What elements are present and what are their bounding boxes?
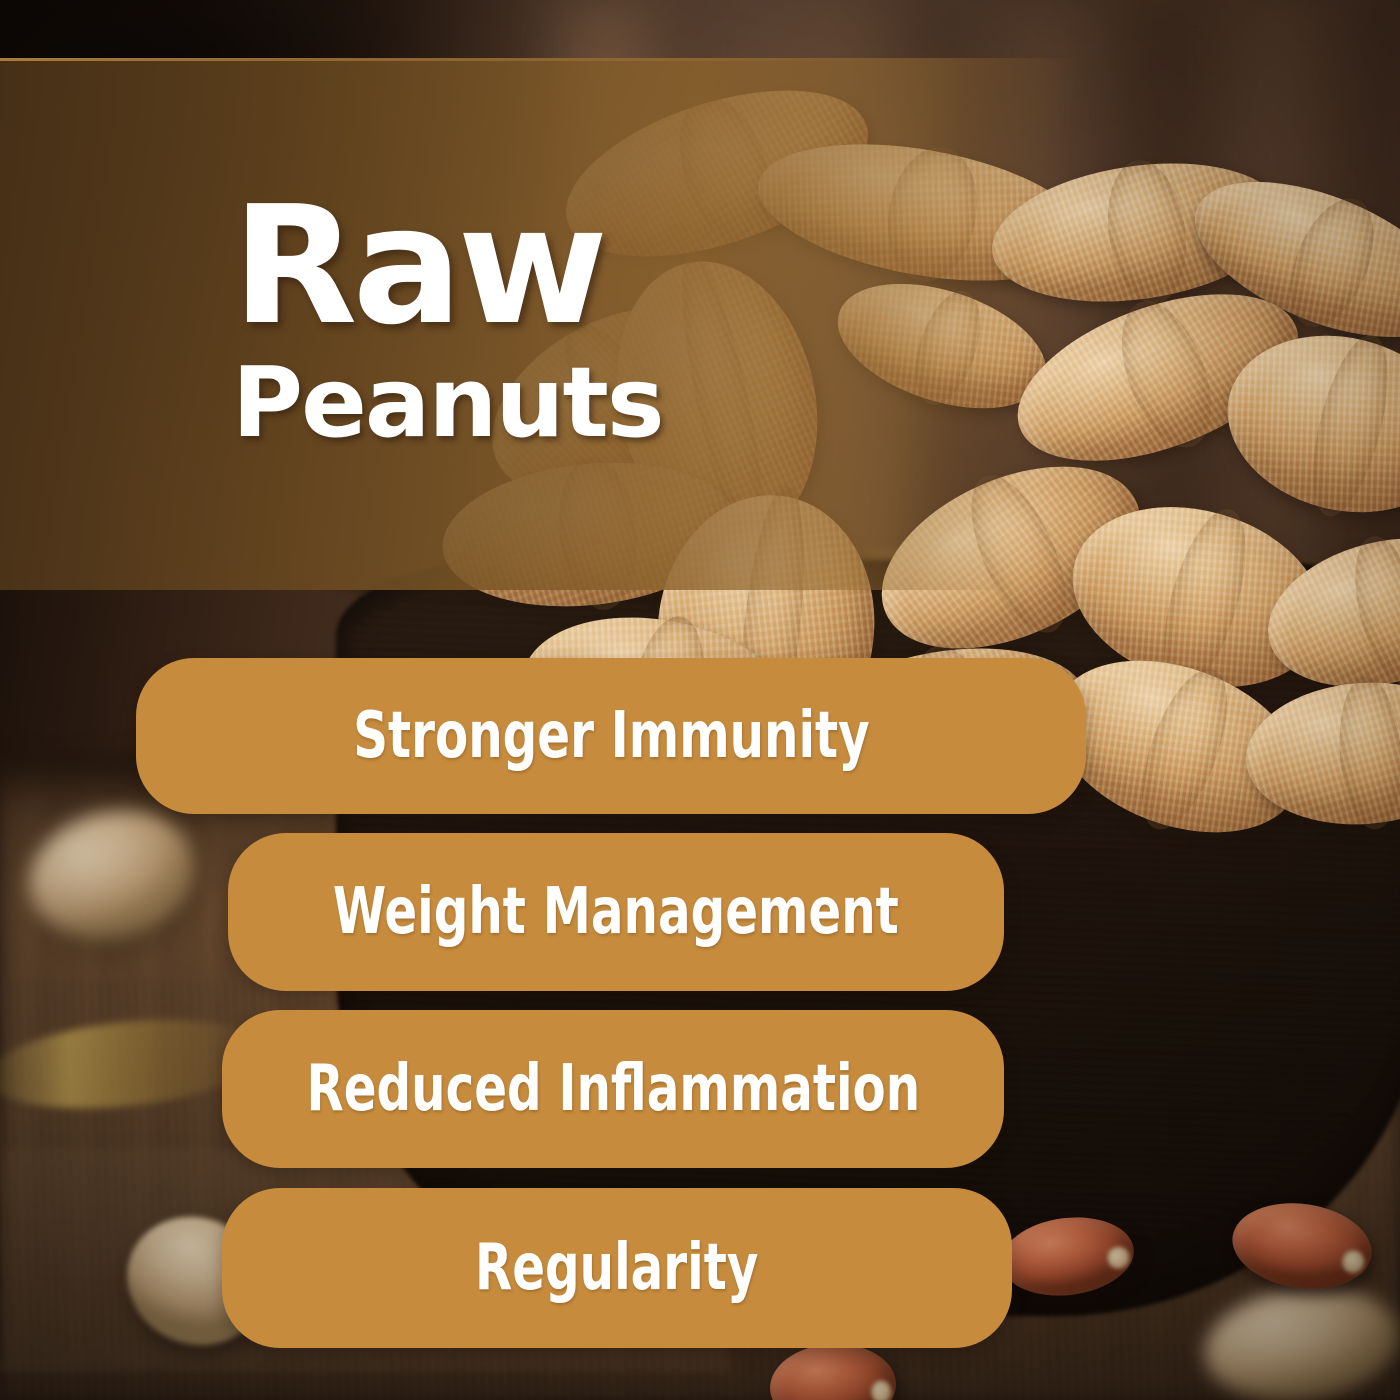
benefit-pill-regularity[interactable]: Regularity [222, 1188, 1012, 1348]
benefit-label: Stronger Immunity [353, 699, 869, 773]
peanut-benefits-poster: Raw Peanuts Stronger Immunity Weight Man… [0, 0, 1400, 1400]
benefit-label: Reduced Inflammation [306, 1052, 920, 1126]
benefit-label: Weight Management [333, 875, 899, 949]
benefit-pill-reduced-inflammation[interactable]: Reduced Inflammation [222, 1010, 1004, 1168]
benefits-list: Stronger Immunity Weight Management Redu… [0, 0, 1400, 1400]
benefit-pill-stronger-immunity[interactable]: Stronger Immunity [136, 658, 1086, 814]
benefit-pill-weight-management[interactable]: Weight Management [228, 833, 1004, 991]
benefit-label: Regularity [475, 1231, 758, 1305]
